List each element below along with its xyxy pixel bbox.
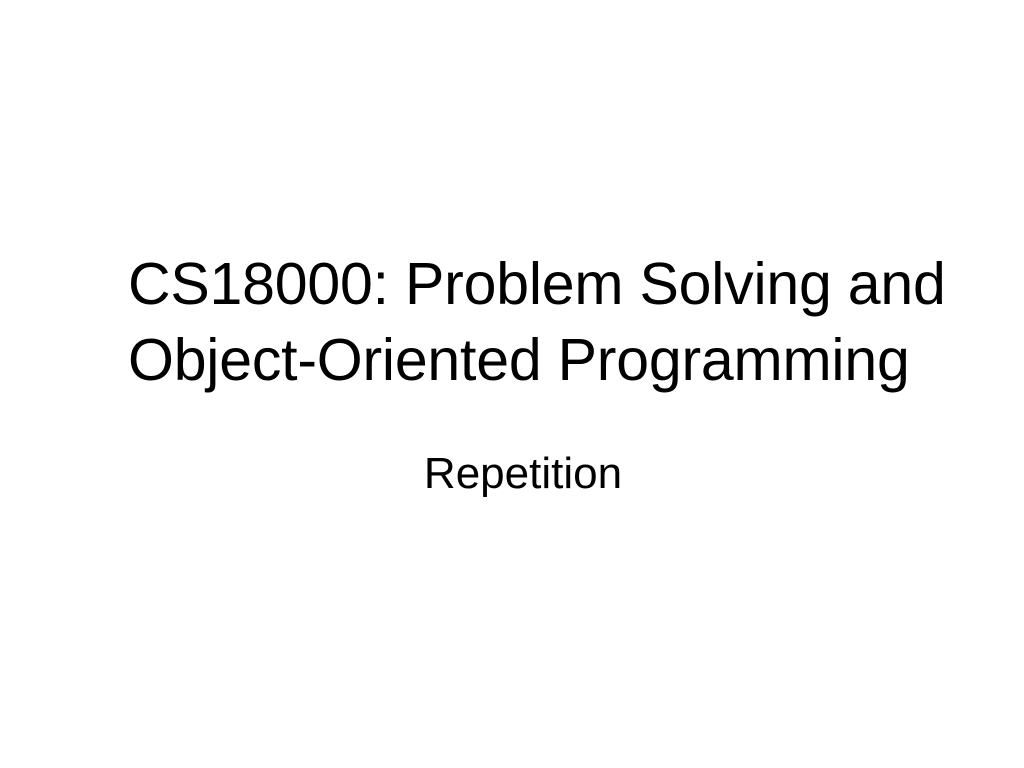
title-line-2: Object-Oriented Programming [128, 322, 918, 398]
title-placeholder: CS18000: Problem Solving and Object-Orie… [128, 246, 918, 398]
page-title: CS18000: Problem Solving and Object-Orie… [128, 246, 918, 398]
title-line-1: CS18000: Problem Solving and [128, 246, 918, 322]
title-slide: CS18000: Problem Solving and Object-Orie… [0, 0, 1024, 768]
page-subtitle: Repetition [128, 446, 918, 502]
subtitle-placeholder: Repetition [128, 446, 918, 502]
